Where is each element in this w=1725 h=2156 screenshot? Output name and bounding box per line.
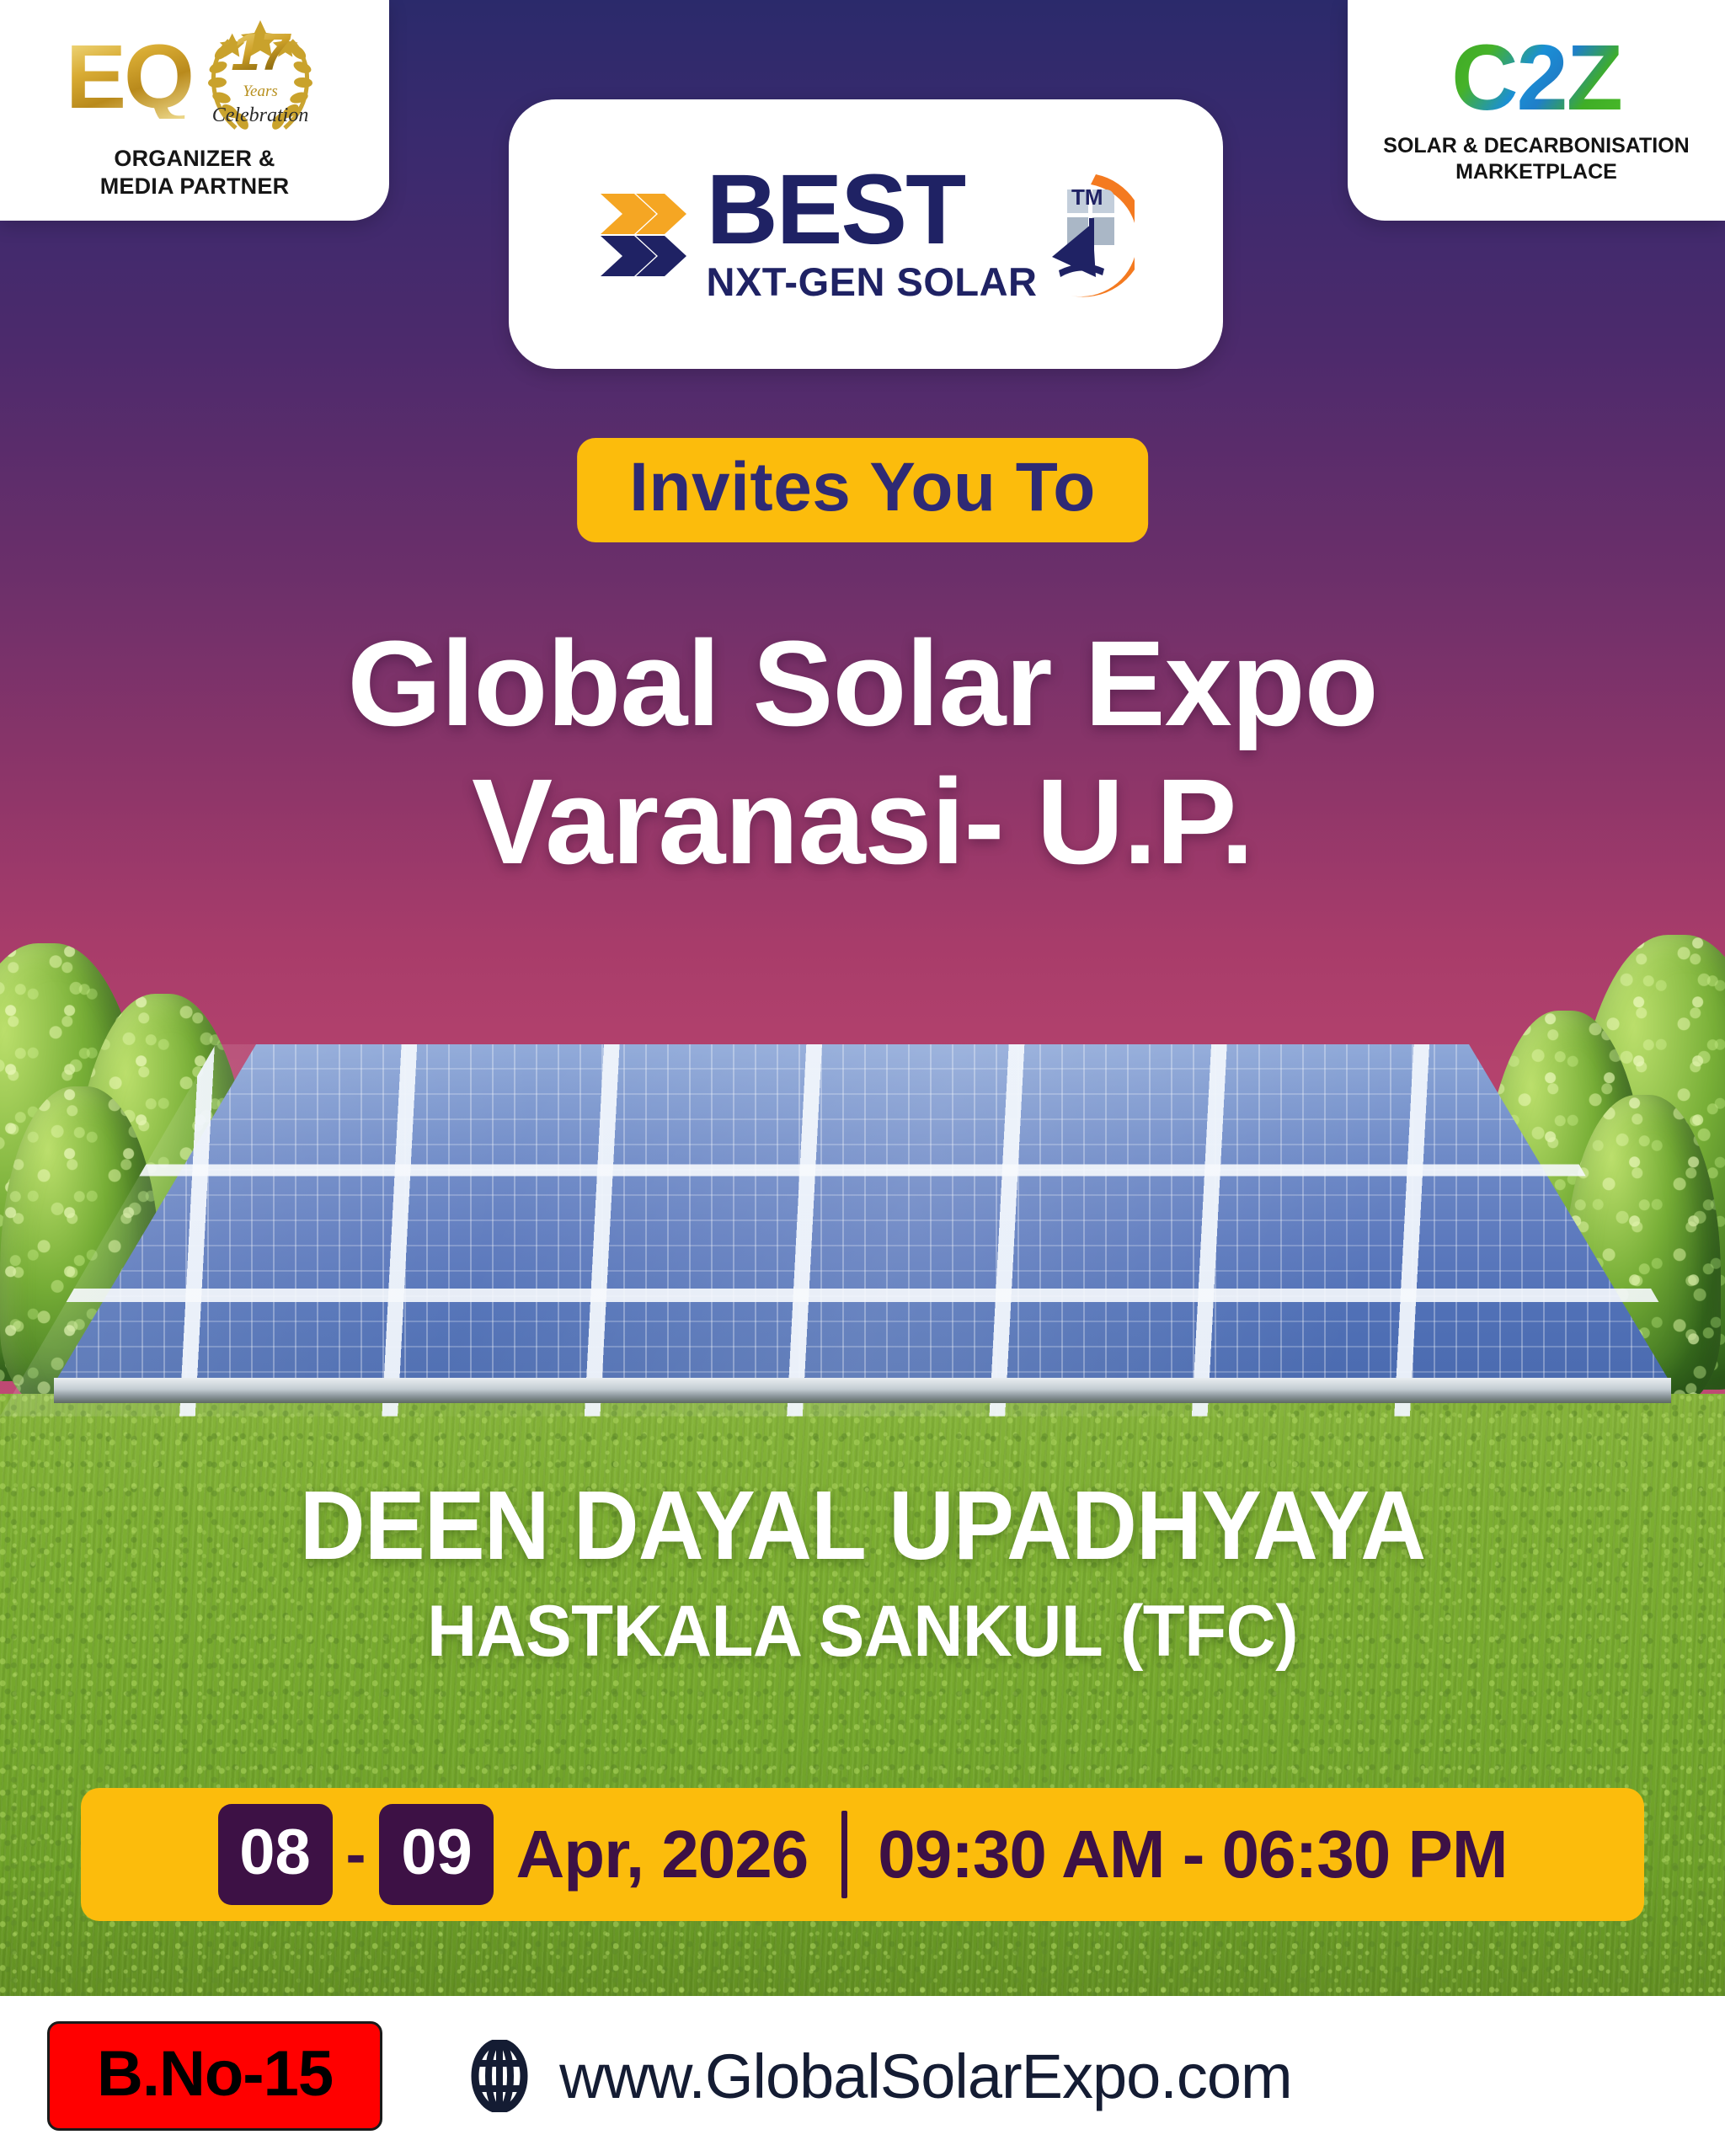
solar-panel-array — [0, 1044, 1725, 1432]
partner-caption-line2: MARKETPLACE — [1383, 159, 1689, 185]
solar-panel-mounting-rail — [54, 1378, 1671, 1403]
best-logo: BEST NXT-GEN SOLAR TM — [597, 163, 1135, 306]
solar-ring-icon: TM — [1008, 163, 1135, 306]
event-poster: EQ — [0, 0, 1725, 2156]
brand-logo-card: BEST NXT-GEN SOLAR TM — [509, 99, 1223, 369]
trademark-mark: TM — [1071, 184, 1103, 211]
day-range-separator: - — [333, 1824, 380, 1885]
time-range-label: 09:30 AM - 06:30 PM — [878, 1821, 1507, 1888]
eq-wordmark: EQ — [66, 35, 192, 118]
footer-bar: B.No-15 www.GlobalSolarExpo.com — [0, 1996, 1725, 2156]
invitation-pill: Invites You To — [577, 438, 1148, 542]
organizer-caption-line2: MEDIA PARTNER — [100, 173, 290, 200]
globe-icon — [463, 2040, 536, 2112]
anniversary-number: 17 — [197, 27, 323, 79]
month-year-label: Apr, 2026 — [494, 1821, 811, 1888]
partner-badge-card: C2Z SOLAR & DECARBONISATION MARKETPLACE — [1348, 0, 1725, 221]
website-url-text: www.GlobalSolarExpo.com — [559, 2041, 1291, 2112]
start-day-chip: 08 — [218, 1804, 333, 1905]
brand-name: BEST — [707, 163, 1038, 257]
schedule-divider — [841, 1811, 847, 1898]
double-chevron-svg — [597, 189, 692, 280]
end-day-chip: 09 — [379, 1804, 494, 1905]
brand-tagline: NXT-GEN SOLAR — [707, 259, 1038, 305]
event-title-line2: Varanasi- U.P. — [0, 753, 1725, 891]
partner-caption: SOLAR & DECARBONISATION MARKETPLACE — [1383, 133, 1689, 185]
booth-number-badge: B.No-15 — [47, 2021, 382, 2131]
venue-name-line2: HASTKALA SANKUL (TFC) — [43, 1593, 1682, 1669]
venue-block: DEEN DAYAL UPADHYAYA HASTKALA SANKUL (TF… — [0, 1476, 1725, 1670]
c2z-wordmark: C2Z — [1451, 32, 1621, 125]
globe-svg — [463, 2040, 536, 2112]
double-chevron-icon — [597, 189, 692, 280]
venue-name-line1: DEEN DAYAL UPADHYAYA — [61, 1476, 1665, 1575]
event-title-line1: Global Solar Expo — [0, 615, 1725, 753]
organizer-caption: ORGANIZER & MEDIA PARTNER — [100, 145, 290, 200]
website-link[interactable]: www.GlobalSolarExpo.com — [463, 2040, 1291, 2112]
solar-panel-glare — [0, 1044, 1725, 1432]
schedule-banner: 08 - 09 Apr, 2026 09:30 AM - 06:30 PM — [81, 1788, 1644, 1921]
anniversary-years-label: Years — [197, 83, 323, 101]
celebration-label: Celebration — [185, 104, 335, 127]
partner-caption-line1: SOLAR & DECARBONISATION — [1383, 133, 1689, 159]
best-text-block: BEST NXT-GEN SOLAR — [707, 163, 1038, 305]
organizer-caption-line1: ORGANIZER & — [100, 145, 290, 173]
laurel-wreath-icon: 17 Years Celebration — [197, 15, 323, 138]
event-title: Global Solar Expo Varanasi- U.P. — [0, 615, 1725, 891]
organizer-badge-card: EQ — [0, 0, 389, 221]
eq-logo: EQ — [66, 15, 323, 138]
